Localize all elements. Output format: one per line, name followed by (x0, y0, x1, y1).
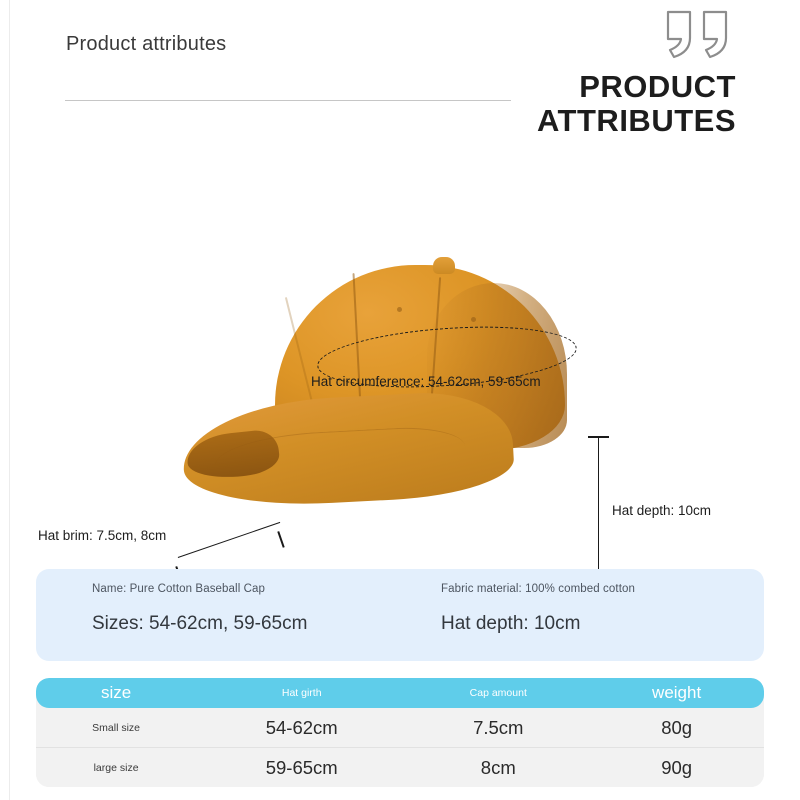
info-fabric-material: Fabric material: 100% combed cotton (441, 583, 635, 595)
page-header: Product attributes PRODUCT ATTRIBUTES (0, 0, 800, 160)
table-header-hat-girth: Hat girth (196, 687, 407, 699)
info-sizes: Sizes: 54-62cm, 59-65cm (92, 613, 307, 635)
cell-size: large size (36, 762, 196, 774)
cell-hat-girth: 54-62cm (196, 717, 407, 739)
cell-cap-amount: 8cm (407, 757, 589, 779)
cell-weight: 80g (589, 717, 764, 739)
brim-dimension-line (178, 522, 281, 558)
table-header-size: size (36, 683, 196, 703)
page-title-large-line2: ATTRIBUTES (316, 104, 736, 138)
depth-dimension-line (598, 436, 599, 588)
page-title-large-line1: PRODUCT (316, 70, 736, 104)
specification-table: size Hat girth Cap amount weight Small s… (36, 678, 764, 787)
cap-top-button (433, 257, 455, 274)
product-info-panel: Name: Pure Cotton Baseball Cap Sizes: 54… (36, 569, 764, 661)
page-title-large: PRODUCT ATTRIBUTES (316, 70, 736, 138)
depth-dimension-cap-top (588, 436, 609, 438)
annotation-hat-circumference: Hat circumference: 54-62cm, 59-65cm (311, 374, 541, 389)
annotation-hat-brim: Hat brim: 7.5cm, 8cm (38, 528, 166, 543)
quotation-mark-icon (658, 8, 738, 60)
page-title-soft: Product attributes (66, 33, 226, 56)
table-header-weight: weight (589, 683, 764, 703)
annotation-hat-depth: Hat depth: 10cm (612, 503, 711, 518)
info-product-name: Name: Pure Cotton Baseball Cap (92, 583, 265, 595)
table-header-row: size Hat girth Cap amount weight (36, 678, 764, 708)
cell-hat-girth: 59-65cm (196, 757, 407, 779)
cell-size: Small size (36, 722, 196, 734)
product-image-area: Hat circumference: 54-62cm, 59-65cm Hat … (0, 160, 800, 560)
cell-weight: 90g (589, 757, 764, 779)
table-header-cap-amount: Cap amount (407, 687, 589, 699)
table-row: large size 59-65cm 8cm 90g (36, 747, 764, 787)
cell-cap-amount: 7.5cm (407, 717, 589, 739)
brim-dimension-cap-end (277, 531, 284, 548)
info-hat-depth: Hat depth: 10cm (441, 613, 580, 635)
cap-eyelet (471, 317, 476, 322)
table-row: Small size 54-62cm 7.5cm 80g (36, 708, 764, 747)
cap-eyelet (397, 307, 402, 312)
